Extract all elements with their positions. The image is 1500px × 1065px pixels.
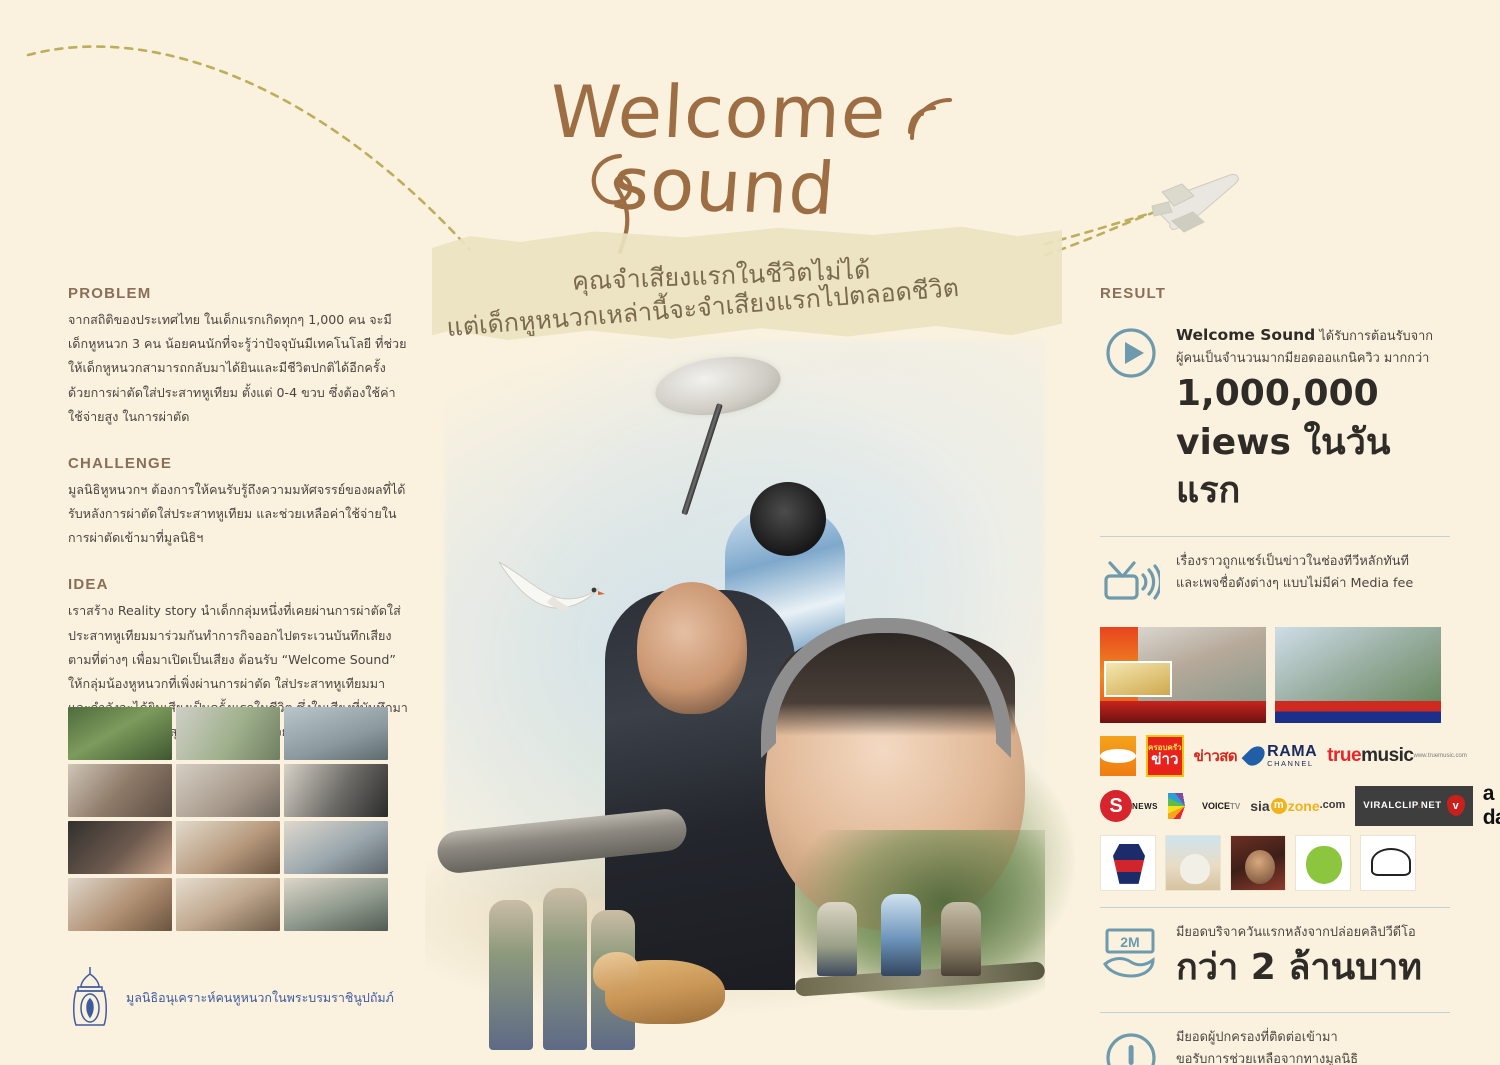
child-headphones-back [750, 482, 826, 556]
rama-sub: CHANNEL [1267, 760, 1317, 768]
s-news-mark: S [1100, 790, 1132, 822]
voice-tv-burst-icon [1168, 793, 1202, 819]
left-photo-grid [68, 707, 388, 931]
s-news-logo: S NEWS [1100, 786, 1158, 826]
result-item-parents-text: มียอดผู้ปกครองที่ติดต่อเข้ามา ขอรับการช่… [1176, 1027, 1450, 1065]
seagull-icon [495, 552, 605, 622]
foundation-seal-icon [68, 965, 112, 1031]
foundation-footer: มูลนิธิอนุเคราะห์คนหูหนวกในพระบรมราชินูป… [68, 965, 394, 1031]
result-heading: RESULT [1100, 285, 1450, 302]
walking-child-1 [489, 900, 533, 1050]
kids-on-log-in-forest [795, 830, 1045, 1010]
result-views-big: 1,000,000 views ในวันแรก [1176, 370, 1450, 516]
ch7-news-ticker [1275, 701, 1441, 723]
title-word-welcome: Welcome [548, 70, 889, 154]
khaosod-logo: ข่าวสด [1194, 741, 1238, 771]
divider-3 [1100, 1012, 1450, 1013]
result-views-line-2: ผู้คนเป็นจำนวนมากมียอดออแกนิควิว มากกว่า [1176, 348, 1450, 370]
siam-zone: zone [1288, 799, 1320, 813]
wifi-waves-icon [900, 74, 972, 140]
result-donation-big: กว่า 2 ล้านบาท [1176, 944, 1450, 993]
dog-with-watermelon-page-thumb [1165, 835, 1221, 891]
photo-family-listening [284, 878, 388, 931]
siam-dotcom: .com [1320, 800, 1346, 811]
green-cartoon-character-page-thumb [1295, 835, 1351, 891]
result-item-parents: มียอดผู้ปกครองที่ติดต่อเข้ามา ขอรับการช่… [1100, 1017, 1450, 1065]
viralclip-shield-icon: v [1447, 795, 1465, 816]
divider-2 [1100, 907, 1450, 908]
result-item-views-text: Welcome Sound ได้รับการต้อนรับจาก ผู้คนเ… [1176, 322, 1450, 516]
result-item-donation: 2M มียอดบริจาควันแรกหลังจากปล่อยคลิปวีดี… [1100, 912, 1450, 1006]
siamzone-logo: sia m zone .com [1250, 786, 1345, 826]
result-donation-line-1: มียอดบริจาควันแรกหลังจากปล่อยคลิปวีดีโอ [1176, 922, 1450, 944]
viralclip-net-logo: VIRALCLIP.NET v [1355, 786, 1472, 826]
play-button-icon [1100, 322, 1162, 380]
left-text-column: PROBLEM จากสถิติของประเทศไทย ในเด็กแรกเก… [68, 285, 408, 770]
section-challenge-heading: CHALLENGE [68, 455, 408, 472]
tv-broadcast-icon [1100, 551, 1162, 603]
right-result-column: RESULT Welcome Sound ได้รับการต้อนรับจาก… [1100, 285, 1450, 1065]
voice-word: VOICE [1202, 801, 1230, 811]
ch3-news-ticker [1100, 701, 1266, 723]
chaiyo-logo [1100, 736, 1136, 776]
ch7-news-screenshot [1275, 627, 1441, 723]
krobkruakao-logo: ครอบครัว ข่าว [1146, 735, 1184, 777]
photo-hand-on-audiometer-board [176, 764, 280, 817]
result-item-views: Welcome Sound ได้รับการต้อนรับจาก ผู้คนเ… [1100, 312, 1450, 530]
photo-laughing-toddler [68, 878, 172, 931]
truemusic-url: www.truemusic.com [1414, 753, 1467, 759]
man-portrait-page-thumb [1230, 835, 1286, 891]
tv-screenshot-row [1100, 627, 1450, 723]
photo-kids-under-bridge [284, 707, 388, 760]
media-logos-row-1: ครอบครัว ข่าว ข่าวสด RAMA CHANNEL true m… [1100, 735, 1450, 777]
ch7-screenshot-image [1275, 627, 1441, 701]
forest-child-2 [881, 894, 921, 976]
welcome-sound-bold: Welcome Sound [1176, 326, 1315, 344]
true-music-logo: true music www.truemusic.com [1327, 736, 1467, 776]
krobkruakao-main: ข่าว [1151, 752, 1178, 767]
viralclip-net: NET [1421, 800, 1442, 811]
airplane-icon [1138, 162, 1244, 240]
result-views-line-1-rest: ได้รับการต้อนรับจาก [1319, 329, 1433, 344]
donation-hand-2m-icon: 2M [1100, 922, 1162, 978]
result-tv-line-2: และเพจชื่อดังต่างๆ แบบไม่มีค่า Media fee [1176, 573, 1450, 595]
media-logos-row-2: S NEWS VOICETV sia m zone .com VIRALCLIP… [1100, 786, 1450, 826]
rama-drop-icon [1242, 742, 1269, 769]
section-problem: PROBLEM จากสถิติของประเทศไทย ในเด็กแรกเก… [68, 285, 408, 429]
result-item-donation-text: มียอดบริจาควันแรกหลังจากปล่อยคลิปวีดีโอ … [1176, 922, 1450, 992]
golden-dog-head [593, 952, 639, 992]
section-challenge-body: มูลนิธิหูหนวกฯ ต้องการให้คนรับรู้ถึงความ… [68, 478, 408, 551]
center-photo-collage [425, 300, 1065, 1020]
photo-smiling-girl [284, 821, 388, 874]
s-news-caption: NEWS [1132, 803, 1158, 811]
divider-1 [1100, 536, 1450, 537]
result-item-tv-text: เรื่องราวถูกแชร์เป็นข่าวในช่องทีวีหลักทั… [1176, 551, 1450, 595]
exclamation-circle-icon [1100, 1027, 1162, 1065]
page-thumbnail-row [1100, 835, 1450, 891]
section-idea-heading: IDEA [68, 576, 408, 593]
poster-canvas: Welcome sound คุณจำเสียงแรกในชีวิตไม่ได้… [0, 0, 1500, 1065]
ch3-studio-inset [1104, 661, 1172, 697]
photo-mother-portrait [176, 878, 280, 931]
walking-child-2 [543, 888, 587, 1050]
siam-a: sia [1250, 799, 1269, 813]
result-parents-line-1: มียอดผู้ปกครองที่ติดต่อเข้ามา [1176, 1027, 1450, 1049]
svg-text:2M: 2M [1120, 934, 1139, 950]
rama-channel-logo: RAMA CHANNEL [1247, 736, 1317, 776]
shoes-drawing-page-thumb [1360, 835, 1416, 891]
ch3-morning-news-screenshot [1100, 627, 1266, 723]
result-views-line-1: Welcome Sound ได้รับการต้อนรับจาก [1176, 322, 1450, 348]
section-problem-heading: PROBLEM [68, 285, 408, 302]
pixel-character-page-thumb [1100, 835, 1156, 891]
photo-kids-with-fan [176, 707, 280, 760]
photo-ear-with-cochlear-implant [68, 821, 172, 874]
photo-kids-in-forest [68, 707, 172, 760]
section-problem-body: จากสถิติของประเทศไทย ในเด็กแรกเกิดทุกๆ 1… [68, 308, 408, 429]
music-word: music [1361, 746, 1413, 765]
girl-with-headphones-head [637, 582, 747, 714]
true-word: true [1327, 746, 1361, 765]
tv-word: TV [1230, 802, 1240, 811]
forest-child-3 [941, 902, 981, 976]
photo-smiling-boy [176, 821, 280, 874]
photo-mother-and-children [68, 764, 172, 817]
result-item-tv: เรื่องราวถูกแชร์เป็นข่าวในช่องทีวีหลักทั… [1100, 541, 1450, 617]
photo-black-speaker [284, 764, 388, 817]
rama-main: RAMA [1267, 743, 1317, 760]
a-day-logo: a day [1483, 786, 1500, 826]
foundation-name: มูลนิธิอนุเคราะห์คนหูหนวกในพระบรมราชินูป… [126, 988, 394, 1008]
voice-tv-logo: VOICETV [1168, 786, 1240, 826]
siam-m: m [1271, 798, 1287, 814]
section-challenge: CHALLENGE มูลนิธิหูหนวกฯ ต้องการให้คนรับ… [68, 455, 408, 551]
result-tv-line-1: เรื่องราวถูกแชร์เป็นข่าวในช่องทีวีหลักทั… [1176, 551, 1450, 573]
result-parents-line-2: ขอรับการช่วยเหลือจากทางมูลนิธิ [1176, 1049, 1450, 1065]
viralclip-word: VIRALCLIP [1363, 800, 1417, 811]
forest-child-1 [817, 902, 857, 976]
